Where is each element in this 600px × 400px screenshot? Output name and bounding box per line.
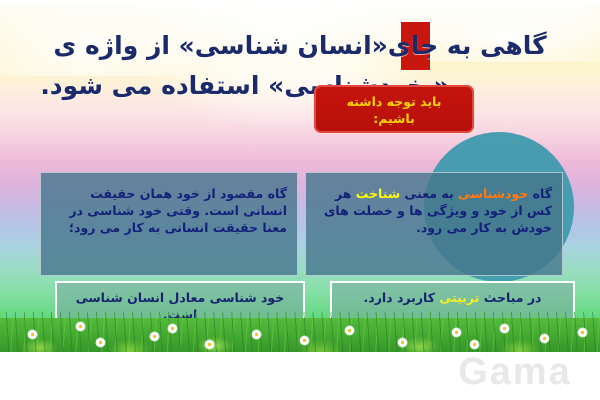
daisy-flower-icon bbox=[470, 340, 479, 349]
card-right-sub-highlight-tarbiati: تربیتی bbox=[439, 290, 479, 305]
card-right-main: گاه خودشناسی به معنی شناخت هر کس از خود … bbox=[305, 172, 563, 276]
daisy-flower-icon bbox=[452, 328, 461, 337]
card-right-highlight-khodshenasi: خودشناسی bbox=[458, 186, 528, 201]
slide-canvas: گاهی به جای«انسان شناسی» از واژه ی « خود… bbox=[0, 0, 600, 400]
slide-title: گاهی به جای«انسان شناسی» از واژه ی « خود… bbox=[20, 26, 580, 106]
card-left-main: گاه مقصود از خود همان حقیقت انسانی است. … bbox=[40, 172, 298, 276]
slide-title-line-1: گاهی به جای«انسان شناسی» از واژه ی bbox=[20, 26, 580, 66]
card-right-prefix: گاه bbox=[528, 186, 552, 201]
attention-callout-box: باید توجه داشته باشیم: bbox=[314, 85, 474, 133]
card-right-highlight-shenakht: شناخت bbox=[356, 186, 400, 201]
watermark-logo: Gama bbox=[430, 352, 600, 392]
card-left-main-text: گاه مقصود از خود همان حقیقت انسانی است. … bbox=[69, 186, 287, 235]
daisy-flower-icon bbox=[28, 330, 37, 339]
daisy-flower-icon bbox=[96, 338, 105, 347]
slide-title-line-2: « خودشناسی» استفاده می شود. bbox=[20, 66, 580, 106]
daisy-flower-icon bbox=[168, 324, 177, 333]
daisy-flower-icon bbox=[500, 324, 509, 333]
daisy-flower-icon bbox=[150, 332, 159, 341]
attention-callout-line-2: باشیم: bbox=[316, 110, 472, 127]
card-right-sub-suffix: کاربرد دارد. bbox=[364, 290, 440, 305]
daisy-flower-icon bbox=[252, 330, 261, 339]
attention-callout-line-1: باید توجه داشته bbox=[316, 93, 472, 110]
daisy-flower-icon bbox=[578, 328, 587, 337]
daisy-flower-icon bbox=[76, 322, 85, 331]
daisy-flower-icon bbox=[540, 334, 549, 343]
daisy-flower-icon bbox=[398, 338, 407, 347]
card-right-sub-prefix: در مباحث bbox=[479, 290, 541, 305]
daisy-flower-icon bbox=[205, 340, 214, 349]
daisy-flower-icon bbox=[345, 326, 354, 335]
card-right-middle: به معنی bbox=[400, 186, 458, 201]
daisy-flower-icon bbox=[300, 336, 309, 345]
